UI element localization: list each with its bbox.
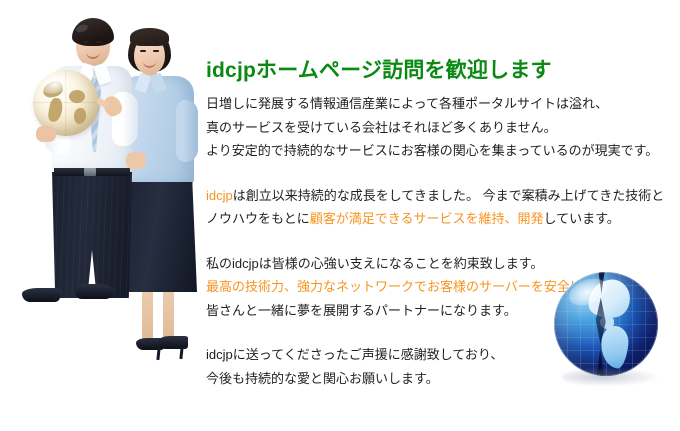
woman-heel-left — [156, 348, 160, 360]
body-text-run: ノウハウをもとに — [206, 211, 310, 226]
body-text-run: idcjpに送ってくださったご声援に感謝致しており、 — [206, 347, 503, 362]
body-text-run: 日増しに発展する情報通信産業によって各種ポータルサイトは溢れ、 — [206, 96, 608, 111]
blue-globe-sphere — [554, 272, 658, 376]
woman-hair-fringe — [130, 28, 169, 46]
man-shoe-left — [22, 288, 60, 302]
man-belt-buckle — [84, 168, 96, 176]
text-line: より安定的で持続的なサービスにお客様の関心を集まっているのが現実です。 — [206, 139, 676, 163]
man-eye-right — [96, 41, 102, 43]
business-people-photo — [0, 0, 200, 431]
text-line: ノウハウをもとに顧客が満足できるサービスを維持、開発しています。 — [206, 207, 676, 231]
woman-eye-right — [153, 50, 159, 52]
woman-eye-left — [140, 50, 146, 52]
paragraph-1: 日増しに発展する情報通信産業によって各種ポータルサイトは溢れ、真のサービスを受け… — [206, 92, 676, 163]
body-text-run: 私のidcjpは皆様の心強い支えになることを約束致します。 — [206, 256, 543, 271]
page-title: idcjpホームページ訪問を歓迎します — [206, 54, 552, 84]
body-text-run: 今後も持続的な愛と関心お願いします。 — [206, 371, 439, 386]
woman-heel-right — [179, 347, 183, 359]
text-line: 真のサービスを受けている会社はそれほど多くありません。 — [206, 116, 676, 140]
photo-subjects — [0, 0, 200, 431]
highlighted-text: 顧客が満足できるサービスを維持、開発 — [310, 211, 544, 226]
paragraph-2: idcjpは創立以来持続的な成長をしてきました。 今まで案積み上げてきた技術とノ… — [206, 184, 676, 231]
man-hand-holding-globe — [36, 126, 56, 142]
woman-arm-right — [176, 100, 198, 162]
text-line: 日増しに発展する情報通信産業によって各種ポータルサイトは溢れ、 — [206, 92, 676, 116]
body-text-run: しています。 — [544, 211, 620, 226]
blue-globe-graphic — [552, 272, 664, 388]
body-text-run: 真のサービスを受けている会社はそれほど多くありません。 — [206, 120, 557, 135]
text-line: idcjpは創立以来持続的な成長をしてきました。 今まで案積み上げてきた技術と — [206, 184, 676, 208]
man-trousers — [52, 172, 132, 298]
man-shoe-right — [76, 284, 114, 299]
highlighted-text: idcjp — [206, 188, 233, 203]
man-hair — [72, 18, 114, 46]
body-text-run: より安定的で持続的なサービスにお客様の関心を集まっているのが現実です。 — [206, 143, 658, 158]
globe-rim-light — [554, 272, 658, 376]
globe-drop-shadow — [562, 368, 658, 386]
man-eye-left — [83, 41, 89, 43]
body-text-run: は創立以来持続的な成長をしてきました。 今まで案積み上げてきた技術と — [233, 188, 664, 203]
welcome-page: idcjpホームページ訪問を歓迎します 日増しに発展する情報通信産業によって各種… — [0, 0, 680, 431]
body-text-run: 皆さんと一緒に夢を展開するパートナーになります。 — [206, 303, 517, 318]
